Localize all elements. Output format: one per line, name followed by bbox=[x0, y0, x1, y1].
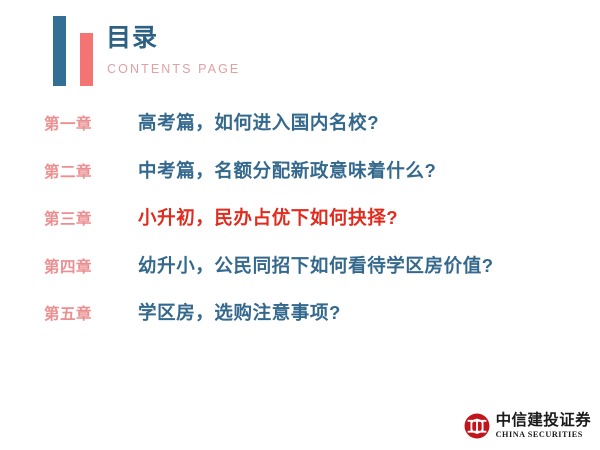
list-item[interactable]: 第五章 学区房，选购注意事项? bbox=[0, 301, 600, 349]
chapter-label: 第一章 bbox=[44, 115, 128, 134]
table-of-contents: 第一章 高考篇，如何进入国内名校? 第二章 中考篇，名额分配新政意味着什么? 第… bbox=[0, 111, 600, 349]
list-item[interactable]: 第一章 高考篇，如何进入国内名校? bbox=[0, 111, 600, 159]
chapter-title: 幼升小，公民同招下如何看待学区房价值? bbox=[138, 254, 494, 278]
list-item[interactable]: 第三章 小升初，民办占优下如何抉择? bbox=[0, 206, 600, 254]
page-subtitle: CONTENTS PAGE bbox=[107, 63, 240, 76]
slide-header: 目录 CONTENTS PAGE bbox=[0, 0, 600, 95]
chapter-label: 第四章 bbox=[44, 258, 128, 277]
list-item[interactable]: 第四章 幼升小，公民同招下如何看待学区房价值? bbox=[0, 254, 600, 302]
chapter-label: 第五章 bbox=[44, 305, 128, 324]
page-title: 目录 bbox=[106, 26, 158, 51]
chapter-title: 高考篇，如何进入国内名校? bbox=[138, 111, 379, 135]
chapter-title: 小升初，民办占优下如何抉择? bbox=[138, 206, 398, 230]
presentation-slide: 目录 CONTENTS PAGE 第一章 高考篇，如何进入国内名校? 第二章 中… bbox=[0, 0, 600, 450]
company-logo: 中信建投证券 CHINA SECURITIES bbox=[464, 413, 591, 439]
logo-name-en: CHINA SECURITIES bbox=[496, 431, 591, 439]
chapter-label: 第三章 bbox=[44, 210, 128, 229]
list-item[interactable]: 第二章 中考篇，名额分配新政意味着什么? bbox=[0, 159, 600, 207]
logo-name-cn: 中信建投证券 bbox=[496, 413, 591, 429]
blue-accent-bar bbox=[53, 16, 66, 86]
logo-text-block: 中信建投证券 CHINA SECURITIES bbox=[496, 413, 591, 439]
chapter-title: 学区房，选购注意事项? bbox=[138, 301, 341, 325]
chapter-title: 中考篇，名额分配新政意味着什么? bbox=[138, 159, 436, 183]
red-accent-bar bbox=[80, 33, 93, 86]
chapter-label: 第二章 bbox=[44, 163, 128, 182]
china-securities-emblem-icon bbox=[464, 413, 490, 439]
